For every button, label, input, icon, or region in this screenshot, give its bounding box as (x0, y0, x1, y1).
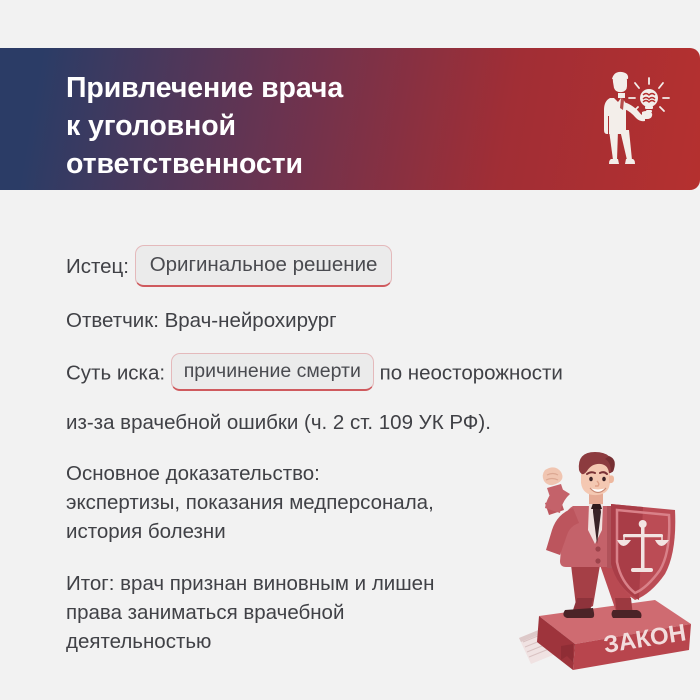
row-plaintiff: Истец: Оригинальное решение (66, 246, 392, 288)
row-claim: Суть иска: причинение смерти по неосторо… (66, 354, 563, 392)
lawyer-head (579, 452, 615, 504)
man-with-lightbulb-icon (582, 60, 678, 180)
result-block: Итог: врач признан виновным и лишен прав… (66, 569, 434, 656)
claim-label: Суть иска: (66, 361, 165, 384)
lawyer-with-shield-illustration: ЗАКОН (505, 448, 700, 683)
evidence-block: Основное доказательство: экспертизы, пок… (66, 459, 434, 546)
plaintiff-label: Истец: (66, 255, 129, 278)
defendant-text: Ответчик: Врач-нейрохирург (66, 309, 337, 332)
plaintiff-chip[interactable]: Оригинальное решение (135, 245, 393, 287)
row-claim-continuation: из-за врачебной ошибки (ч. 2 ст. 109 УК … (66, 409, 491, 437)
claim-chip[interactable]: причинение смерти (171, 353, 374, 391)
header-banner: Привлечение врача к уголовной ответствен… (0, 48, 700, 190)
page-title: Привлечение врача к уголовной ответствен… (66, 70, 536, 184)
law-book: ЗАКОН (519, 600, 691, 670)
claim-after-chip-text: по неосторожности (380, 361, 563, 384)
row-defendant: Ответчик: Врач-нейрохирург (66, 307, 337, 335)
claim-continuation-text: из-за врачебной ошибки (ч. 2 ст. 109 УК … (66, 411, 491, 434)
